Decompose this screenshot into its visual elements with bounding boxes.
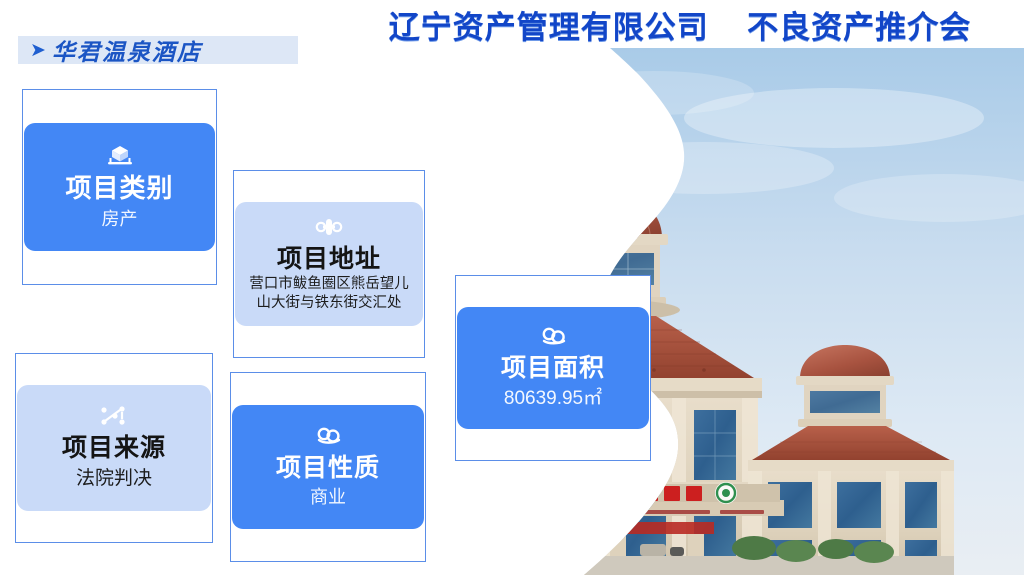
arrow-right-icon: ➤	[30, 41, 46, 60]
info-card-address-title: 项目地址	[277, 245, 381, 274]
info-card-address[interactable]: 项目地址 营口市鲅鱼圈区熊岳望儿山大街与铁东街交汇处	[233, 170, 425, 358]
info-card-category-value: 房产	[102, 208, 138, 231]
location-pin-icon	[313, 216, 345, 243]
network-nodes-icon	[98, 405, 130, 432]
info-card-category-body: 项目类别 房产	[24, 123, 215, 251]
info-card-address-value: 营口市鲅鱼圈区熊岳望儿山大街与铁东街交汇处	[243, 275, 415, 312]
info-card-category[interactable]: 项目类别 房产	[22, 89, 217, 285]
info-card-source-value: 法院判决	[76, 467, 152, 491]
cloud-circles-icon	[312, 425, 344, 452]
cube-icon	[105, 143, 135, 172]
subtitle-label: 华君温泉酒店	[52, 33, 202, 67]
info-card-area-title: 项目面积	[501, 354, 605, 383]
info-card-source-body: 项目来源 法院判决	[17, 385, 211, 511]
info-card-source-title: 项目来源	[62, 434, 166, 463]
info-card-address-body: 项目地址 营口市鲅鱼圈区熊岳望儿山大街与铁东街交汇处	[235, 202, 423, 326]
info-card-nature-title: 项目性质	[276, 454, 380, 483]
info-card-nature-value: 商业	[310, 486, 346, 509]
subtitle: ➤ 华君温泉酒店	[30, 33, 202, 67]
page-title: 辽宁资产管理有限公司 不良资产推介会	[340, 2, 1020, 46]
info-card-area[interactable]: 项目面积 80639.95㎡	[455, 275, 651, 461]
info-card-category-title: 项目类别	[65, 174, 173, 204]
info-card-nature-body: 项目性质 商业	[232, 405, 424, 529]
circles-icon	[537, 325, 569, 352]
info-card-area-body: 项目面积 80639.95㎡	[457, 307, 649, 429]
info-card-nature[interactable]: 项目性质 商业	[230, 372, 426, 562]
info-card-source[interactable]: 项目来源 法院判决	[15, 353, 213, 543]
info-card-area-value: 80639.95㎡	[504, 387, 602, 411]
